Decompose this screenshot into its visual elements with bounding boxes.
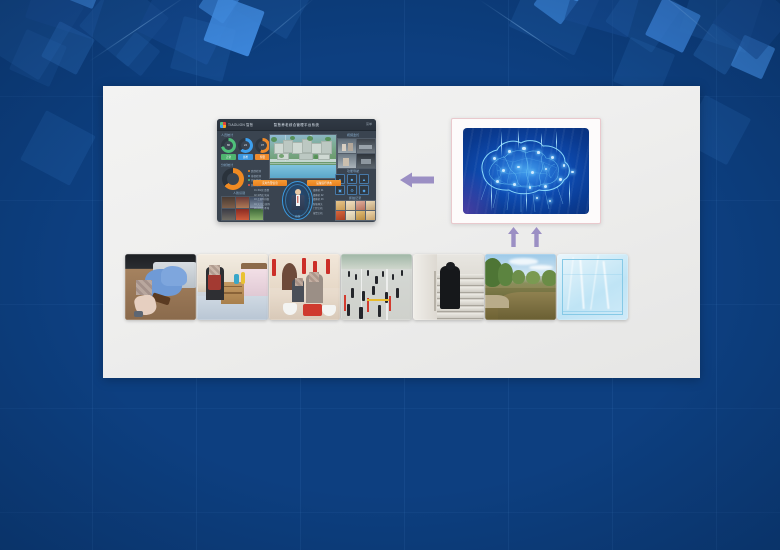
nav-icon-gear[interactable]: ⚙ <box>347 185 357 195</box>
camera-tile[interactable] <box>356 138 376 154</box>
alert-row: 05 206房 呼叫 <box>254 206 269 210</box>
profile-caption: 在线 <box>295 214 300 218</box>
brain-node <box>529 186 532 189</box>
profile-figure-head <box>295 189 301 195</box>
status-list-header: 设备运行状态 <box>307 180 341 186</box>
legend-label-1: 徘徊检测 <box>251 174 261 178</box>
faces-panel-label: 人脸识别 <box>233 191 245 195</box>
photo-fall-detection[interactable] <box>125 254 196 320</box>
brain-node <box>551 156 554 159</box>
brain-node <box>537 151 540 154</box>
alert-row: 01 302房 跌倒 <box>254 188 269 192</box>
photo-activity-room[interactable] <box>269 254 340 320</box>
scene-photo-strip <box>125 254 628 320</box>
dashboard-menu-label[interactable]: 菜单 <box>366 122 372 126</box>
brain-beam <box>526 188 527 212</box>
legend-label-0: 跌倒检测 <box>251 169 261 173</box>
capture-thumb[interactable] <box>365 210 376 221</box>
photo-stairs-person[interactable] <box>413 254 484 320</box>
brain-beam <box>556 131 557 153</box>
photo-bedroom-monitoring[interactable] <box>197 254 268 320</box>
photo-plaza-crowd[interactable] <box>341 254 412 320</box>
content-card: TIAOLION 智慧 智慧养老综合管理平台系统 菜单 人员统计 86 24 0… <box>103 86 700 378</box>
face-thumb[interactable] <box>235 208 250 221</box>
left-arrow <box>398 171 436 189</box>
status-row: 智能网关 <box>313 202 323 206</box>
brain-node <box>559 178 562 181</box>
dashboard-title: 智慧养老综合管理平台系统 <box>274 122 320 127</box>
status-chip-2: 预警 <box>255 154 270 160</box>
legend-dot-1 <box>248 175 250 177</box>
nav-icon-chart[interactable]: ■ <box>347 174 357 184</box>
gauge-ring-2: 07 <box>255 138 270 153</box>
alert-row: 04 大门口 越界 <box>254 202 270 206</box>
profile-figure-tie <box>297 196 298 203</box>
legend-dot-0 <box>248 170 250 172</box>
dashboard-logo-icon <box>220 122 226 128</box>
gauge-ring-1: 24 <box>238 138 253 153</box>
profile-avatar-panel: 在线 <box>282 181 313 220</box>
gauge-value-1: 24 <box>238 138 253 153</box>
status-row: 报警主机 <box>313 211 323 215</box>
brain-node <box>549 200 551 202</box>
status-row: 摄像机 02 <box>313 193 324 197</box>
brain-node <box>544 185 547 188</box>
gauge-value-2: 07 <box>255 138 270 153</box>
photo-park-lake[interactable] <box>485 254 556 320</box>
brain-beam <box>491 181 492 210</box>
gauge-ring-0: 86 <box>221 138 236 153</box>
nav-icon-bell[interactable]: ▲ <box>359 174 369 184</box>
ai-brain-image <box>463 128 589 214</box>
nav-icon-map[interactable]: ◆ <box>359 185 369 195</box>
alert-list-header: 实时告警信息 <box>253 180 287 186</box>
legend-dot-3 <box>248 184 250 186</box>
legend-dot-2 <box>248 179 250 181</box>
stats-panel-label: 人员统计 <box>221 133 233 137</box>
gauge-value-0: 86 <box>221 138 236 153</box>
nav-icon-camera[interactable]: ▣ <box>335 185 345 195</box>
photo-abstract-blue[interactable] <box>557 254 628 320</box>
alert-row: 03 走廊B 徘徊 <box>254 197 269 201</box>
status-row: 摄像机 03 <box>313 197 324 201</box>
up-arrow-2 <box>530 226 543 248</box>
ai-brain-panel[interactable] <box>451 118 601 224</box>
alert-row: 02 105房 离床 <box>254 193 269 197</box>
brain-node <box>517 166 519 168</box>
face-thumb[interactable] <box>221 208 236 221</box>
camera-panel-label: 视频监控 <box>347 133 359 137</box>
brain-beam <box>541 133 542 148</box>
brain-node <box>508 150 510 152</box>
slide-canvas: TIAOLION 智慧 智慧养老综合管理平台系统 菜单 人员统计 86 24 0… <box>0 0 780 550</box>
camera-tile[interactable] <box>356 153 376 169</box>
status-row: 门禁主机 <box>313 206 323 210</box>
brain-beam <box>569 180 570 208</box>
campus-map[interactable] <box>269 134 337 179</box>
chart-panel-label: 分析统计 <box>221 163 233 167</box>
brain-beam <box>518 130 519 149</box>
status-row: 摄像机 01 <box>313 188 324 192</box>
donut-chart <box>222 168 244 190</box>
up-arrow-1 <box>507 226 520 248</box>
brain-node <box>563 164 566 167</box>
brain-node <box>522 147 525 150</box>
camera-tile[interactable] <box>337 138 357 154</box>
brain-beam <box>501 131 502 157</box>
status-chip-1: 巡检 <box>238 154 253 160</box>
camera-tile[interactable] <box>337 153 357 169</box>
dashboard-screenshot[interactable]: TIAOLION 智慧 智慧养老综合管理平台系统 菜单 人员统计 86 24 0… <box>217 119 376 222</box>
status-chip-0: 正常 <box>221 154 236 160</box>
icons-panel-label: 功能导航 <box>347 169 359 173</box>
dashboard-logo-text: TIAOLION 智慧 <box>228 122 253 127</box>
